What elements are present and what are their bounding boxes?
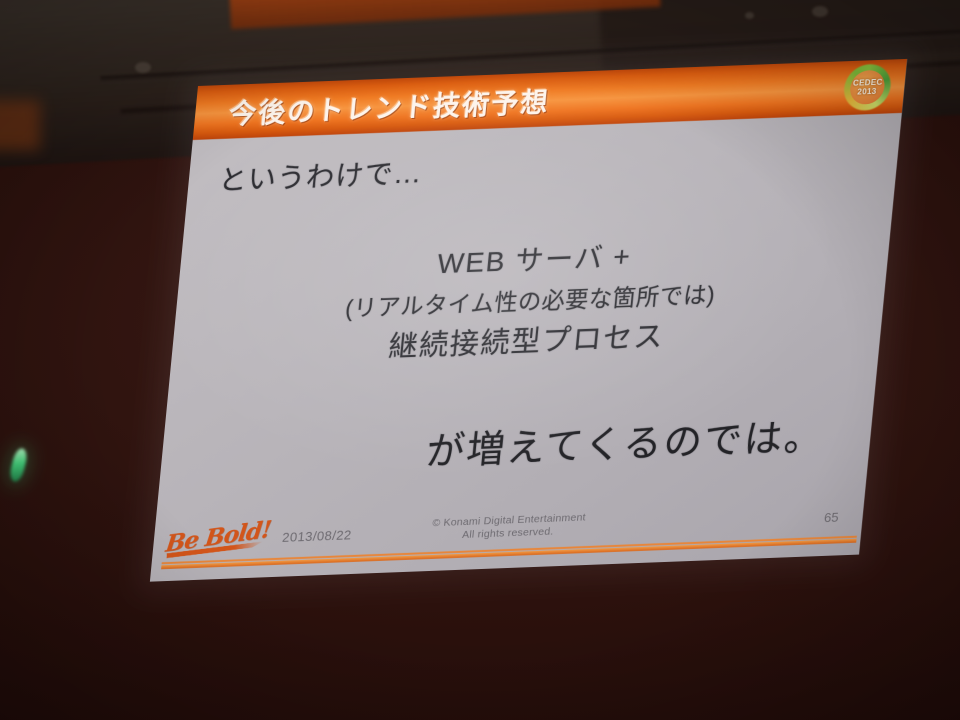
closing-line: が増えてくるのでは。 xyxy=(424,405,827,475)
lead-line: というわけで… xyxy=(217,151,425,199)
ceiling-fixture-icon xyxy=(812,6,828,17)
center-text-block: WEB サーバ + (リアルタイム性の必要な箇所では) 継続接続型プロセス xyxy=(170,225,891,374)
slide-title: 今後のトレンド技術予想 xyxy=(228,80,552,131)
logo-text-line2: 2013 xyxy=(857,87,877,97)
slide-surface: 今後のトレンド技術予想 CEDEC 2013 というわけで… WEB サーバ +… xyxy=(150,59,907,582)
projected-slide: 今後のトレンド技術予想 CEDEC 2013 というわけで… WEB サーバ +… xyxy=(150,59,907,582)
conference-logo-icon: CEDEC 2013 xyxy=(842,63,893,111)
ceiling-fixture-icon xyxy=(745,12,754,19)
ceiling-orange-glow xyxy=(0,100,40,150)
photo-scene: 今後のトレンド技術予想 CEDEC 2013 というわけで… WEB サーバ +… xyxy=(0,0,960,720)
logo-mark: CEDEC 2013 xyxy=(842,63,893,111)
slide-body: というわけで… WEB サーバ + (リアルタイム性の必要な箇所では) 継続接続… xyxy=(155,113,902,526)
ceiling-fixture-icon xyxy=(135,62,151,73)
page-number: 65 xyxy=(823,509,839,525)
